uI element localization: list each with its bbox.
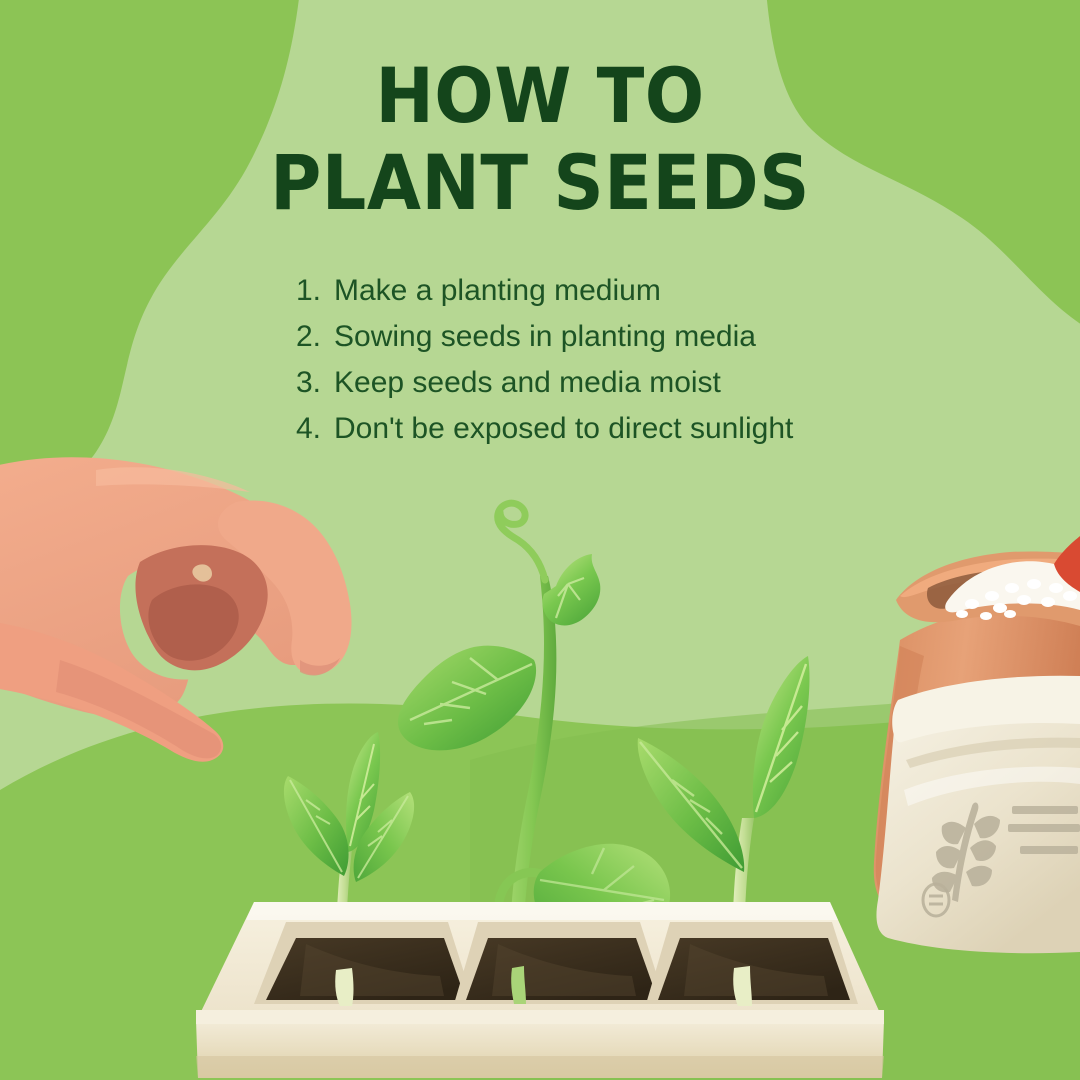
step-number: 3. — [296, 360, 334, 406]
list-item: 1. Make a planting medium — [296, 268, 916, 314]
step-number: 1. — [296, 268, 334, 314]
list-item: 4. Don't be exposed to direct sunlight — [296, 406, 916, 452]
infographic-poster: HOW TO PLANT SEEDS 1. Make a planting me… — [0, 0, 1080, 1080]
steps-list: 1. Make a planting medium 2. Sowing seed… — [296, 268, 916, 452]
step-label: Keep seeds and media moist — [334, 360, 721, 406]
title-line-1: HOW TO — [43, 58, 1037, 133]
list-item: 3. Keep seeds and media moist — [296, 360, 916, 406]
title-line-2: PLANT SEEDS — [43, 145, 1037, 220]
step-number: 4. — [296, 406, 334, 452]
step-label: Don't be exposed to direct sunlight — [334, 406, 793, 452]
text-content-layer: HOW TO PLANT SEEDS 1. Make a planting me… — [0, 0, 1080, 1080]
step-number: 2. — [296, 314, 334, 360]
step-label: Sowing seeds in planting media — [334, 314, 756, 360]
list-item: 2. Sowing seeds in planting media — [296, 314, 916, 360]
step-label: Make a planting medium — [334, 268, 661, 314]
page-title: HOW TO PLANT SEEDS — [0, 58, 1080, 220]
